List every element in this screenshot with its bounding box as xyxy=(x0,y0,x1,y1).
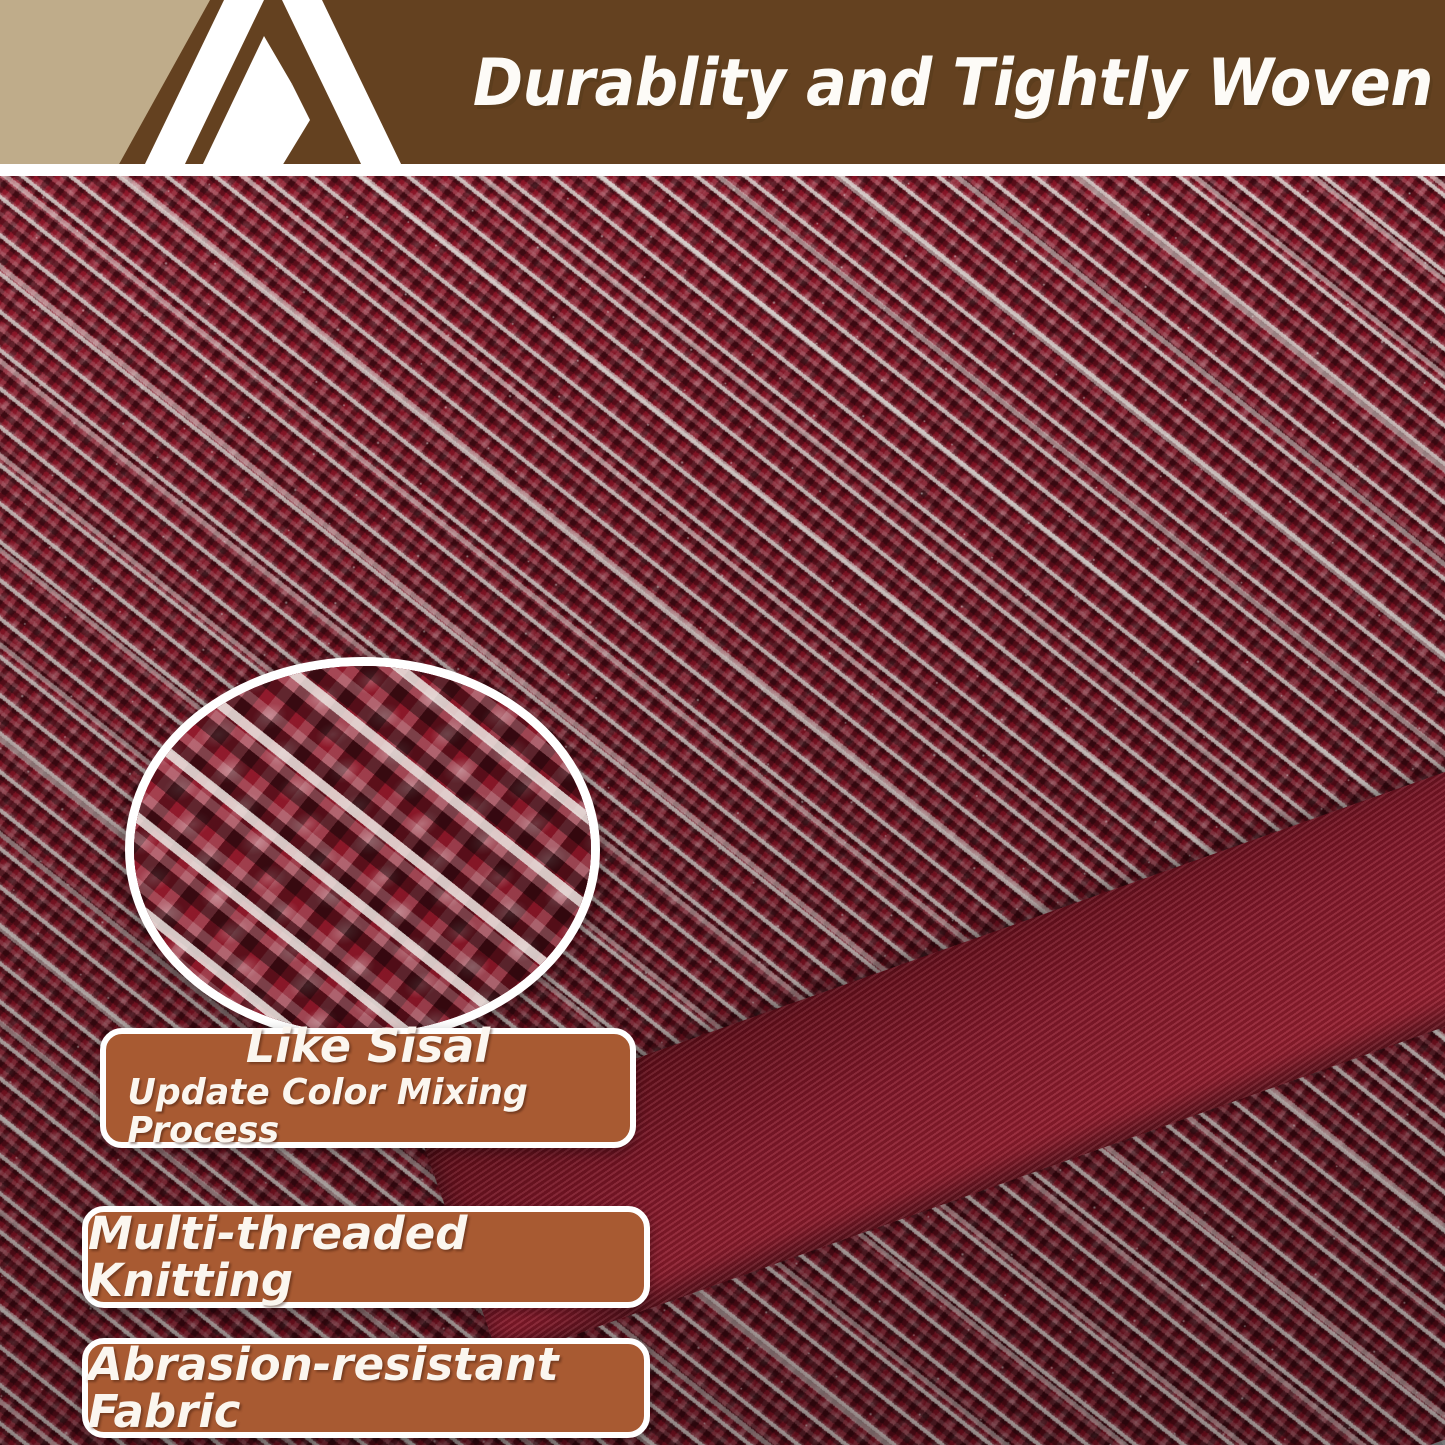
feature-badge-like-sisal: Like Sisal Update Color Mixing Process xyxy=(100,1028,636,1148)
banner-bottom-divider xyxy=(0,164,1445,176)
page-title: Durablity and Tightly Woven xyxy=(500,0,1433,166)
header-banner: Durablity and Tightly Woven xyxy=(0,0,1445,176)
feature-badge-abrasion-resistant-fabric: Abrasion-resistant Fabric xyxy=(82,1338,650,1438)
feature-badge-title: Abrasion-resistant Fabric xyxy=(88,1341,644,1436)
feature-badge-subtitle: Update Color Mixing Process xyxy=(127,1074,608,1150)
product-feature-image: Durablity and Tightly Woven Like Sisal U… xyxy=(0,0,1445,1445)
magnified-weave-texture xyxy=(125,657,600,1042)
feature-badge-title: Multi-threaded Knitting xyxy=(88,1210,644,1305)
feature-badge-multi-threaded-knitting: Multi-threaded Knitting xyxy=(82,1206,650,1308)
mountain-m-logo xyxy=(96,0,426,166)
feature-badge-title: Like Sisal xyxy=(246,1022,490,1070)
magnifier-circle xyxy=(125,657,600,1042)
